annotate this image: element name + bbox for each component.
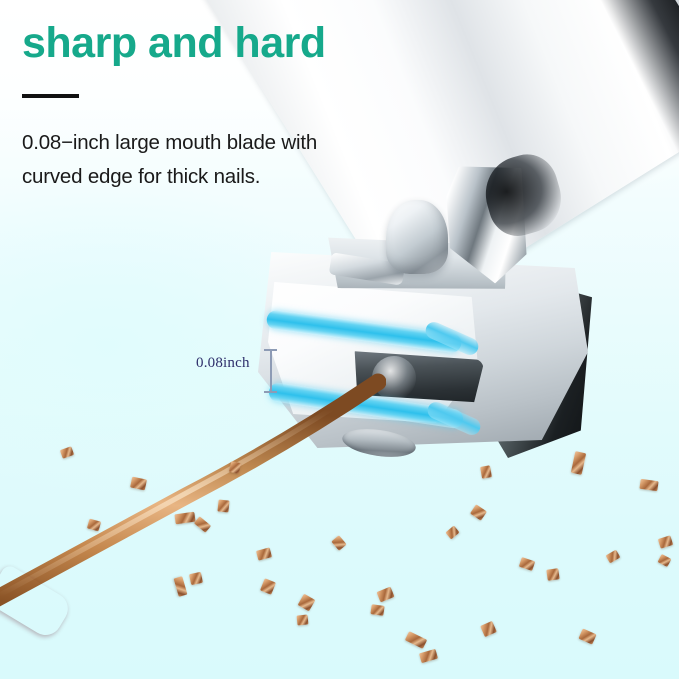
copper-wire: [0, 368, 386, 608]
title-underline-rule: [22, 94, 79, 98]
page-title: sharp and hard: [22, 20, 326, 66]
copper-chip: [370, 604, 384, 616]
copper-chip: [297, 614, 309, 625]
copper-chip: [217, 499, 229, 512]
measurement-label: 0.08inch: [196, 355, 250, 372]
measurement-bracket-icon: [264, 349, 277, 393]
feature-description: 0.08−inch large mouth blade with curved …: [22, 126, 352, 195]
copper-chip: [546, 568, 559, 581]
product-feature-image: sharp and hard 0.08−inch large mouth bla…: [0, 0, 679, 679]
copper-chip: [480, 465, 492, 479]
clipper-pivot-knob: [386, 200, 448, 274]
